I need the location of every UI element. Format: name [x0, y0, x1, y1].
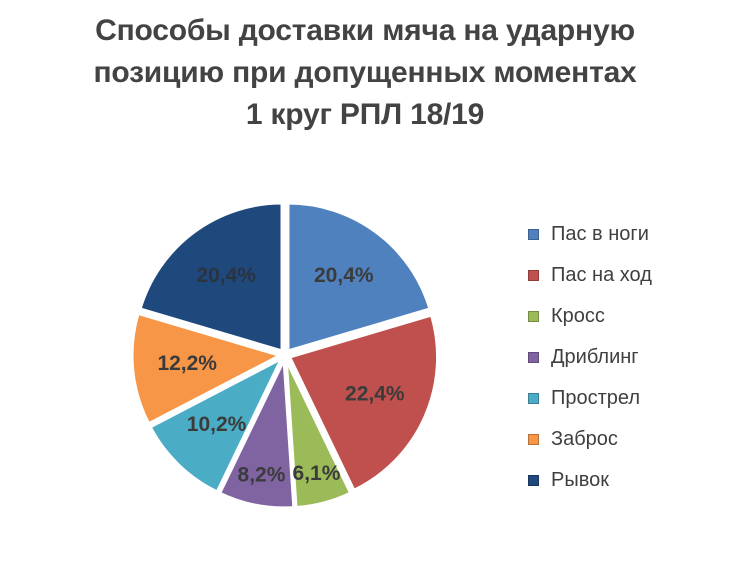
- pie-slice-value-label: 8,2%: [238, 464, 286, 487]
- legend-color-swatch: [528, 270, 539, 281]
- legend-item-label: Дриблинг: [551, 346, 639, 369]
- legend-item[interactable]: Кросс: [528, 296, 728, 337]
- pie-slice-value-label: 22,4%: [345, 382, 405, 405]
- pie-chart: Способы доставки мяча на ударную позицию…: [0, 0, 730, 564]
- legend-item[interactable]: Пас в ноги: [528, 214, 728, 255]
- legend-color-swatch: [528, 229, 539, 240]
- legend-item[interactable]: Рывок: [528, 460, 728, 501]
- legend-item-label: Кросс: [551, 305, 605, 328]
- legend-color-swatch: [528, 475, 539, 486]
- pie-slice-value-label: 12,2%: [157, 352, 217, 375]
- legend-color-swatch: [528, 393, 539, 404]
- legend-color-swatch: [528, 352, 539, 363]
- chart-legend: Пас в ногиПас на ходКроссДриблингПростре…: [528, 214, 728, 501]
- pie-slice-value-label: 10,2%: [187, 413, 247, 436]
- legend-item[interactable]: Дриблинг: [528, 337, 728, 378]
- legend-item[interactable]: Прострел: [528, 378, 728, 419]
- legend-item-label: Пас на ход: [551, 264, 652, 287]
- legend-item-label: Пас в ноги: [551, 223, 649, 246]
- legend-item[interactable]: Заброс: [528, 419, 728, 460]
- pie-svg: 20,4%22,4%6,1%8,2%10,2%12,2%20,4%: [110, 165, 470, 550]
- pie-plot-area: 20,4%22,4%6,1%8,2%10,2%12,2%20,4%: [110, 165, 470, 550]
- legend-item-label: Рывок: [551, 469, 609, 492]
- pie-slice-value-label: 6,1%: [293, 462, 341, 485]
- legend-color-swatch: [528, 434, 539, 445]
- legend-color-swatch: [528, 311, 539, 322]
- pie-slice-value-label: 20,4%: [196, 264, 256, 287]
- pie-slice-value-label: 20,4%: [314, 264, 374, 287]
- chart-title: Способы доставки мяча на ударную позицию…: [40, 10, 690, 136]
- legend-item-label: Прострел: [551, 387, 640, 410]
- legend-item[interactable]: Пас на ход: [528, 255, 728, 296]
- legend-item-label: Заброс: [551, 428, 618, 451]
